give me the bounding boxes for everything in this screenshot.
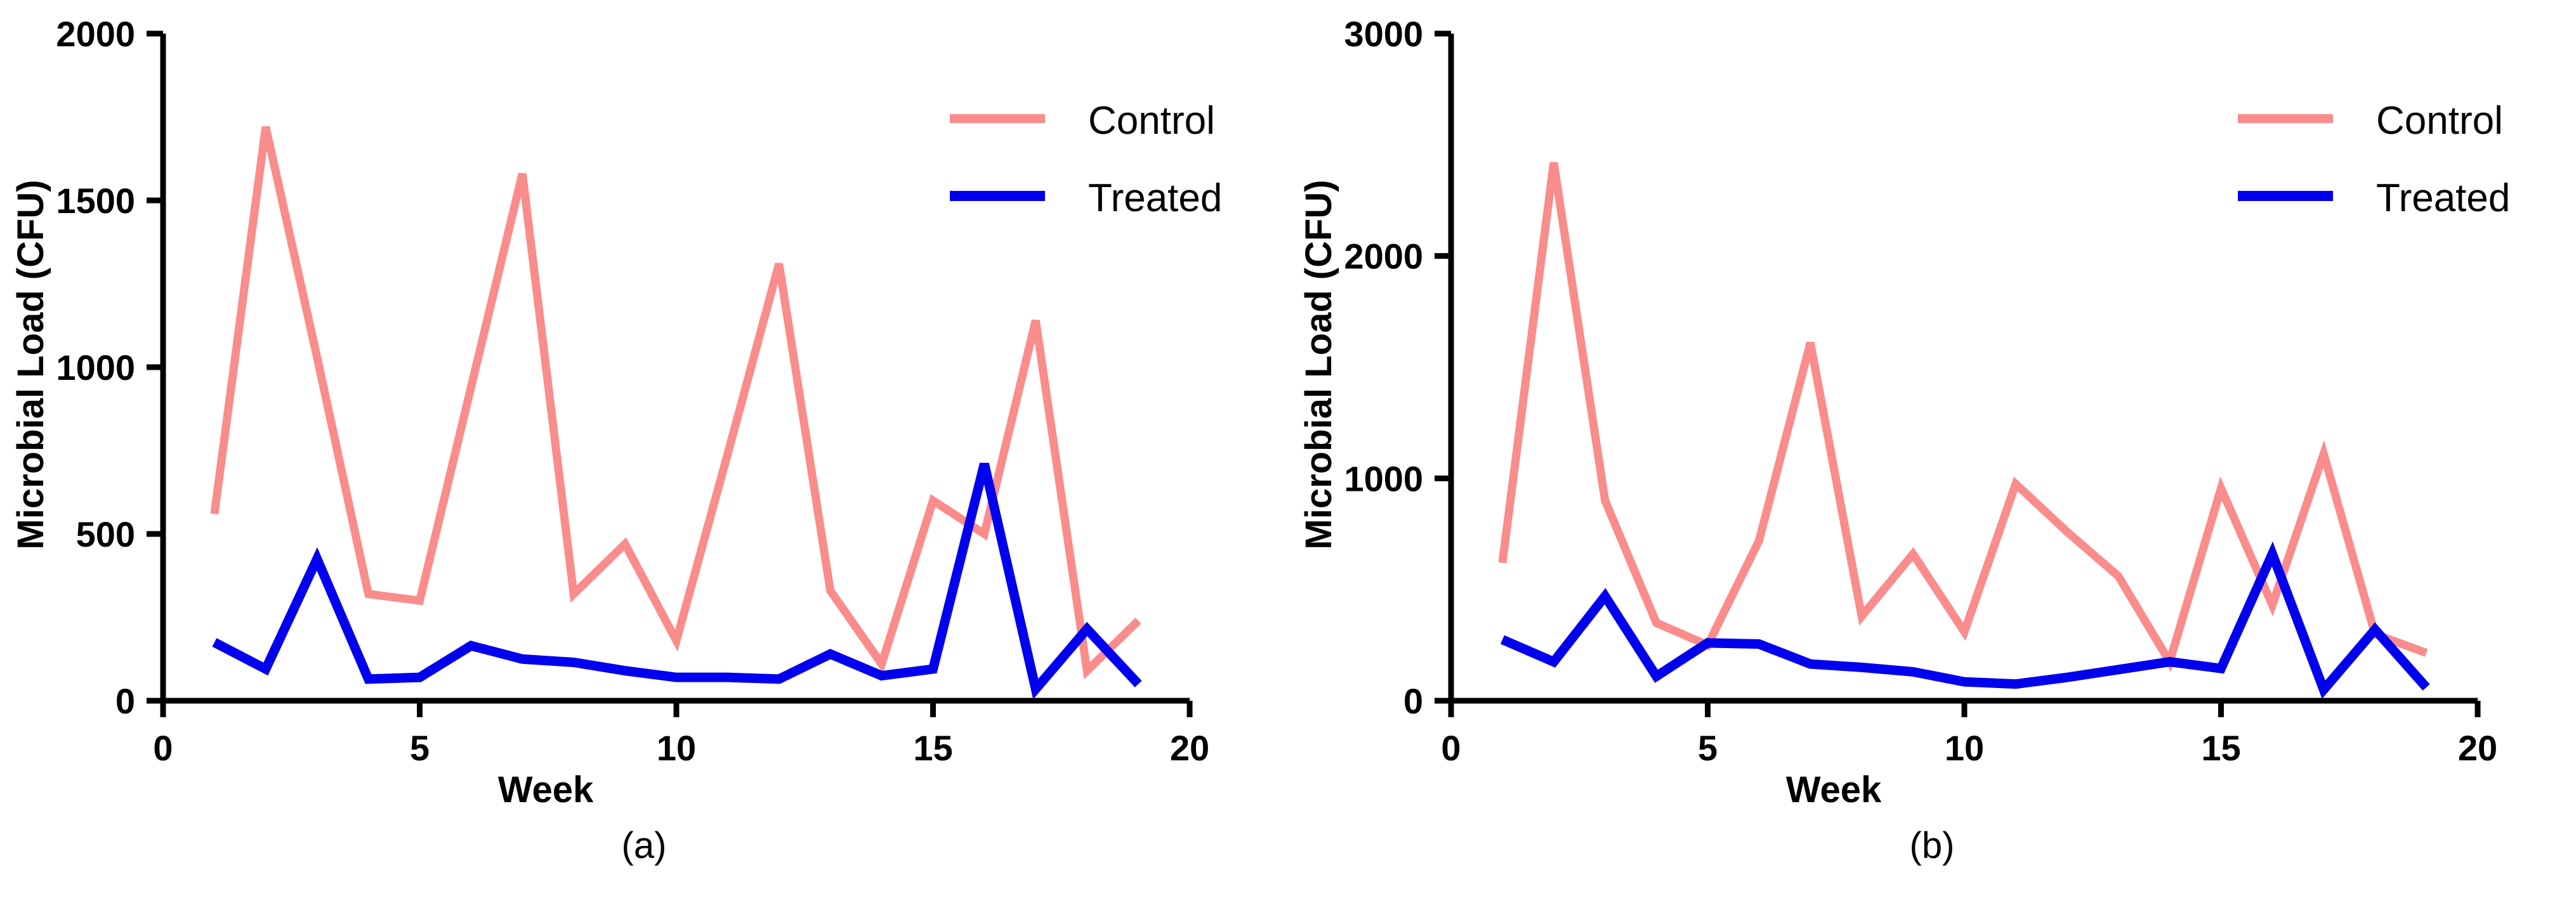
panel-b-y-tick-labels: 0100020003000 — [1344, 14, 1423, 721]
b-y-tick-label: 0 — [1403, 681, 1423, 721]
panel-b-x-axis-title: Week — [1786, 769, 1882, 810]
a-y-tick-label: 1000 — [56, 348, 135, 387]
b-y-tick-label: 3000 — [1344, 14, 1423, 54]
b-x-tick-label: 0 — [1441, 728, 1461, 768]
panel-a-plot: 0500100015002000 05101520 ControlTreated… — [0, 0, 1288, 910]
b-y-tick-label: 1000 — [1344, 458, 1423, 498]
panel-a-caption: (a) — [0, 824, 1288, 867]
panel-a-legend: ControlTreated — [950, 99, 1222, 220]
a-x-tick-label: 0 — [153, 728, 173, 768]
panel-a: 0500100015002000 05101520 ControlTreated… — [0, 0, 1288, 910]
panel-b-y-axis-title: Microbial Load (CFU) — [1298, 179, 1339, 549]
a-legend-label-control: Control — [1088, 99, 1215, 143]
a-series-control — [214, 127, 1138, 670]
panel-b-legend: ControlTreated — [2238, 99, 2510, 220]
a-x-tick-label: 15 — [913, 728, 952, 768]
a-x-tick-label: 5 — [410, 728, 430, 768]
b-legend-label-control: Control — [2376, 99, 2503, 143]
a-y-tick-label: 500 — [76, 514, 135, 554]
figure-two-panel-line-charts: 0500100015002000 05101520 ControlTreated… — [0, 0, 2576, 910]
b-x-tick-label: 5 — [1698, 728, 1718, 768]
panel-a-y-axis-title: Microbial Load (CFU) — [10, 179, 51, 549]
a-x-tick-label: 20 — [1170, 728, 1209, 768]
a-y-tick-label: 1500 — [56, 181, 135, 221]
a-series-treated — [214, 464, 1138, 689]
a-y-tick-label: 0 — [115, 681, 135, 721]
a-x-tick-label: 10 — [657, 728, 696, 768]
b-x-tick-label: 20 — [2458, 728, 2497, 768]
b-legend-label-treated: Treated — [2376, 176, 2510, 220]
b-x-tick-label: 15 — [2201, 728, 2240, 768]
panel-a-x-axis-title: Week — [498, 769, 594, 810]
b-x-tick-label: 10 — [1945, 728, 1984, 768]
panel-b-x-tick-labels: 05101520 — [1441, 728, 2497, 768]
panel-b-data-lines — [1502, 162, 2426, 689]
panel-a-x-tick-labels: 05101520 — [153, 728, 1209, 768]
panel-a-axes — [147, 34, 1190, 717]
panel-b: 0100020003000 05101520 ControlTreated Mi… — [1288, 0, 2576, 910]
a-legend-label-treated: Treated — [1088, 176, 1222, 220]
a-y-tick-label: 2000 — [56, 14, 135, 54]
panel-a-y-tick-labels: 0500100015002000 — [56, 14, 135, 721]
panel-a-data-lines — [214, 127, 1138, 689]
panel-b-caption: (b) — [1288, 824, 2576, 867]
b-y-tick-label: 2000 — [1344, 237, 1423, 276]
panel-b-plot: 0100020003000 05101520 ControlTreated Mi… — [1288, 0, 2576, 910]
